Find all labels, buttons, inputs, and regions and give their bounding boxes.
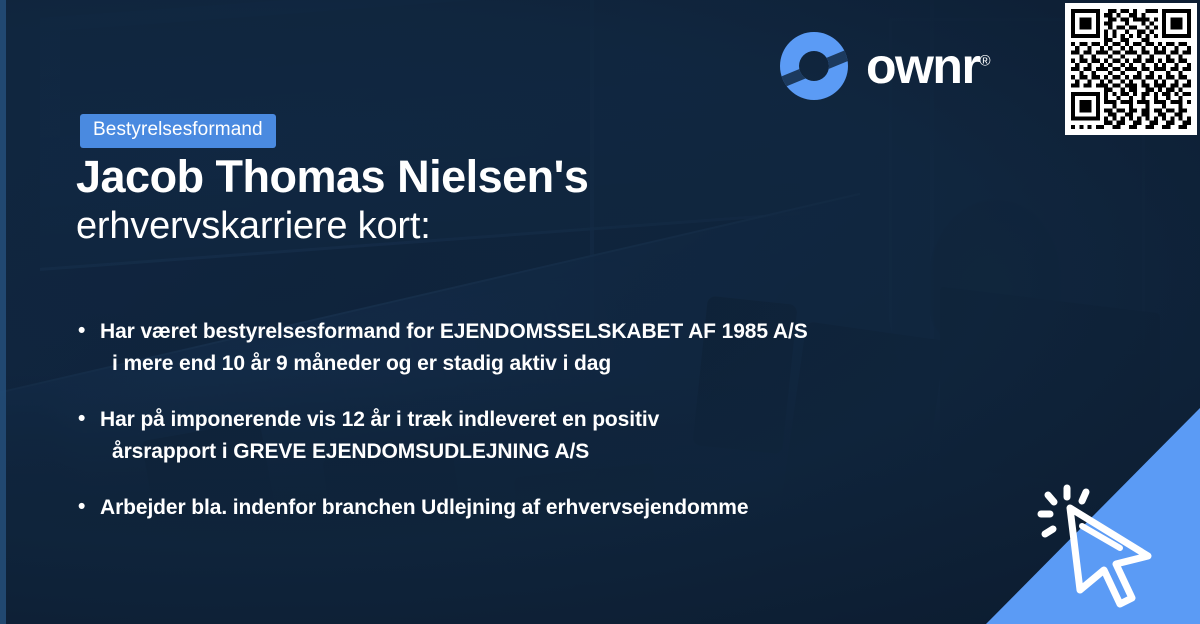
bullet-marker: •	[78, 404, 100, 434]
qr-code-icon[interactable]	[1065, 3, 1197, 135]
list-item: • Har været bestyrelsesformand for EJEND…	[78, 316, 1038, 379]
list-item-line-1: Har på imponerende vis 12 år i træk indl…	[100, 408, 659, 431]
career-summary-card: ownr® Bestyrelsesformand Jacob Thomas Ni…	[0, 0, 1200, 624]
list-item-text: Har på imponerende vis 12 år i træk indl…	[100, 404, 659, 467]
list-item-line-2: i mere end 10 år 9 måneder og er stadig …	[100, 348, 808, 380]
career-highlights-list: • Har været bestyrelsesformand for EJEND…	[78, 316, 1038, 549]
bullet-marker: •	[78, 492, 100, 522]
click-cursor-icon	[1036, 482, 1186, 612]
ownr-wordmark: ownr®	[866, 41, 991, 91]
ownr-logo[interactable]: ownr®	[778, 30, 991, 102]
list-item-text: Arbejder bla. indenfor branchen Udlejnin…	[100, 492, 748, 524]
list-item-text: Har været bestyrelsesformand for EJENDOM…	[100, 316, 808, 379]
bullet-marker: •	[78, 316, 100, 346]
title-line-1: Jacob Thomas Nielsen's	[76, 152, 976, 202]
page-title: Jacob Thomas Nielsen's erhvervskarriere …	[76, 152, 976, 250]
list-item-line-1: Har været bestyrelsesformand for EJENDOM…	[100, 320, 808, 343]
registered-mark: ®	[979, 52, 990, 69]
list-item-line-1: Arbejder bla. indenfor branchen Udlejnin…	[100, 496, 748, 519]
brand-name: ownr	[866, 38, 979, 94]
ownr-circle-swoosh-icon	[778, 30, 850, 102]
title-line-2: erhvervskarriere kort:	[76, 204, 976, 250]
role-badge: Bestyrelsesformand	[80, 114, 276, 148]
list-item: • Har på imponerende vis 12 år i træk in…	[78, 404, 1038, 467]
left-edge-accent-strip	[0, 0, 6, 624]
list-item: • Arbejder bla. indenfor branchen Udlejn…	[78, 492, 1038, 524]
list-item-line-2: årsrapport i GREVE EJENDOMSUDLEJNING A/S	[100, 436, 659, 468]
